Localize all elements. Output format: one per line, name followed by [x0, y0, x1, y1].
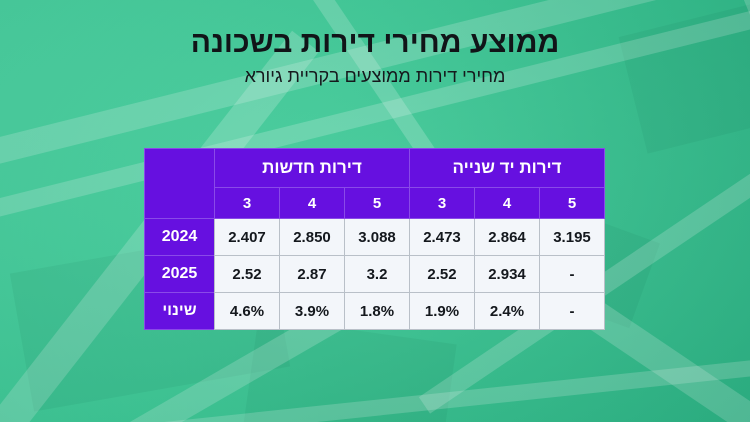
header: ממוצע מחירי דירות בשכונה מחירי דירות ממו… — [0, 0, 750, 88]
table-cell: 2.407 — [214, 219, 279, 256]
sub-header-rooms-5-second-hand: 5 — [540, 188, 605, 219]
row-label-change: שינוי — [144, 293, 214, 330]
table-body: 3.195 2.864 2.473 3.088 2.850 2.407 2024… — [144, 219, 604, 330]
table-cell: 1.9% — [410, 293, 475, 330]
table-row: - 2.4% 1.9% 1.8% 3.9% 4.6% שינוי — [144, 293, 604, 330]
table-cell: - — [540, 293, 605, 330]
table-cell: 3.088 — [345, 219, 410, 256]
table-row: - 2.934 2.52 3.2 2.87 2.52 2025 — [144, 256, 604, 293]
sub-header-rooms-3-new: 3 — [214, 188, 279, 219]
sub-header-rooms-5-new: 5 — [345, 188, 410, 219]
table-cell: 1.8% — [345, 293, 410, 330]
table-cell: 3.9% — [280, 293, 345, 330]
pricing-table: דירות יד שנייה דירות חדשות 5 4 3 5 4 3 3… — [144, 148, 605, 330]
table-corner-cell — [144, 149, 214, 219]
group-header-second-hand: דירות יד שנייה — [410, 149, 605, 188]
table-head: דירות יד שנייה דירות חדשות 5 4 3 5 4 3 — [144, 149, 604, 219]
table-cell: 2.934 — [475, 256, 540, 293]
group-header-row: דירות יד שנייה דירות חדשות — [144, 149, 604, 188]
table-cell: 3.195 — [540, 219, 605, 256]
table-cell: 3.2 — [345, 256, 410, 293]
table-cell: 2.850 — [280, 219, 345, 256]
row-label-2025: 2025 — [144, 256, 214, 293]
table-cell: 2.52 — [214, 256, 279, 293]
pricing-table-container: דירות יד שנייה דירות חדשות 5 4 3 5 4 3 3… — [145, 148, 605, 330]
map-block — [243, 317, 456, 422]
table-cell: - — [540, 256, 605, 293]
table-cell: 2.52 — [410, 256, 475, 293]
group-header-new-apartments: דירות חדשות — [214, 149, 409, 188]
sub-header-rooms-3-second-hand: 3 — [410, 188, 475, 219]
page-title: ממוצע מחירי דירות בשכונה — [0, 26, 750, 59]
table-cell: 2.4% — [475, 293, 540, 330]
table-cell: 2.864 — [475, 219, 540, 256]
sub-header-rooms-4-second-hand: 4 — [475, 188, 540, 219]
sub-header-rooms-4-new: 4 — [280, 188, 345, 219]
table-row: 3.195 2.864 2.473 3.088 2.850 2.407 2024 — [144, 219, 604, 256]
page-subtitle: מחירי דירות ממוצעים בקריית גיורא — [0, 66, 750, 88]
table-cell: 2.473 — [410, 219, 475, 256]
slide-root: ממוצע מחירי דירות בשכונה מחירי דירות ממו… — [0, 0, 750, 422]
map-road — [41, 349, 750, 422]
table-cell: 2.87 — [280, 256, 345, 293]
row-label-2024: 2024 — [144, 219, 214, 256]
table-cell: 4.6% — [214, 293, 279, 330]
